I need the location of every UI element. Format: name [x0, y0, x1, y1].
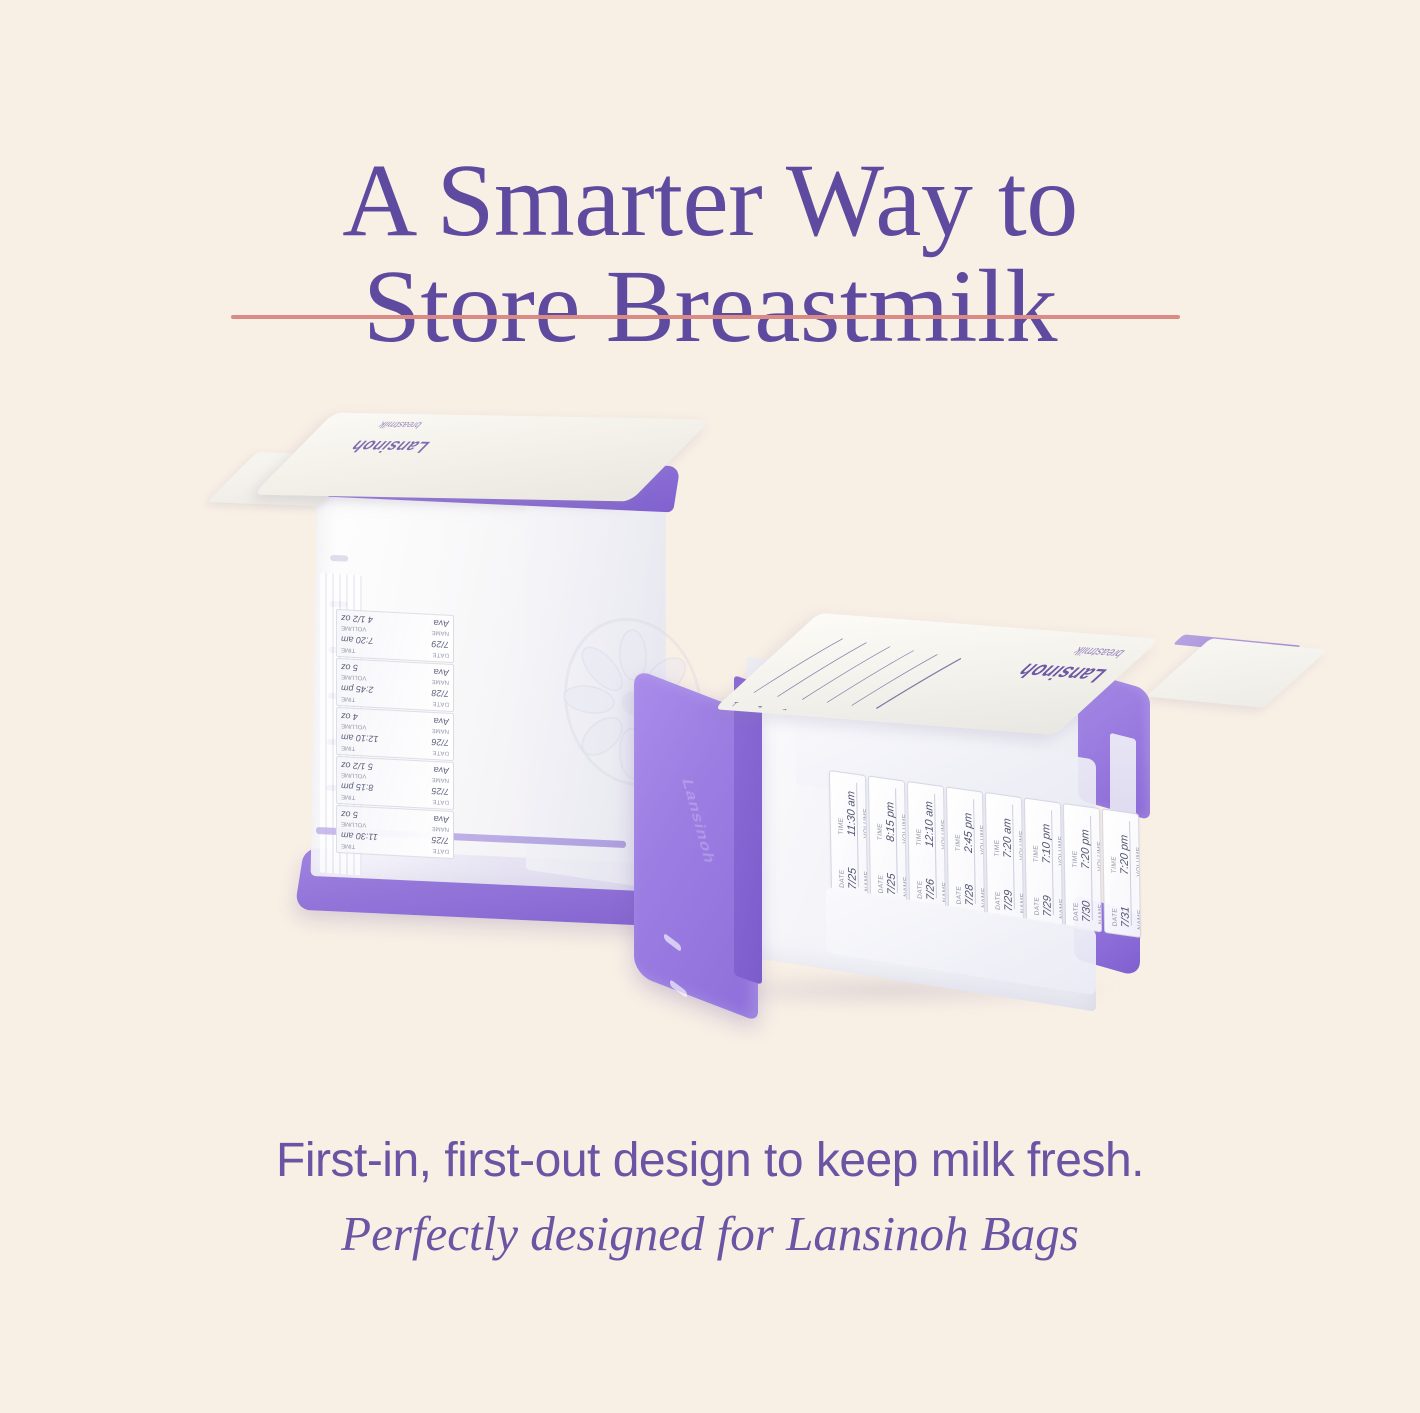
rear-milk-bag: Lansinoh breastmilk: [253, 413, 711, 502]
endcap-brand-wordmark: Lansinoh: [677, 779, 717, 865]
milk-log-label: DATE 7/25 NAME Ava TIME 11:30 am VOLUME …: [829, 770, 868, 900]
rear-label-entry: DATE 7/25 NAME Ava TIME 11:30 am VOLUME …: [336, 805, 454, 859]
endcap-slot-icon: [664, 933, 681, 953]
brand-product-word: breastmilk: [1070, 644, 1129, 660]
rear-label-entry: DATE 7/28 NAME Ava TIME 2:45 pm VOLUME 5…: [336, 658, 454, 712]
brand-product-word: breastmilk: [375, 420, 425, 431]
milk-log-label: DATE 7/29 NAME Ava TIME 7:20 am VOLUME 4…: [985, 792, 1024, 922]
milk-log-label: DATE 7/26 NAME Ava TIME 12:10 am VOLUME …: [907, 781, 946, 911]
front-bag-tab: [1146, 638, 1328, 707]
front-endcap-edge: [734, 675, 762, 985]
milk-log-label: DATE 7/30 NAME Ava TIME 7:20 pm VOLUME 4…: [1063, 803, 1102, 933]
rear-label-entry: DATE 7/25 NAME Ava TIME 8:15 pm VOLUME 5…: [336, 756, 454, 810]
milk-log-label: DATE 7/29 NAME Ava TIME 7:10 pm VOLUME 4…: [1024, 797, 1063, 927]
brand-wordmark: Lansinoh: [345, 436, 436, 455]
svg-text:6: 6: [851, 713, 866, 719]
promo-page: A Smarter Way to Store Breastmilk: [0, 0, 1420, 1413]
product-photo: DATE 7/25 NAME Ava TIME 11:30 am VOLUME …: [0, 0, 1420, 1413]
rear-label-strip: DATE 7/25 NAME Ava TIME 11:30 am VOLUME …: [336, 609, 454, 859]
svg-text:1: 1: [727, 700, 742, 710]
caption-secondary: Perfectly designed for Lansinoh Bags: [0, 1205, 1420, 1262]
bag-measurement-scale-icon: 1 2 3 4 5 6: [726, 622, 1002, 720]
svg-text:2: 2: [750, 704, 765, 714]
caption-primary: First-in, first-out design to keep milk …: [0, 1133, 1420, 1188]
milk-log-label: DATE 7/25 NAME Ava TIME 8:15 pm VOLUME 5…: [868, 775, 907, 905]
rear-label-entry: DATE 7/26 NAME Ava TIME 12:10 am VOLUME …: [336, 707, 454, 761]
milk-log-label: DATE 7/31 NAME Ava TIME 7:20 pm VOLUME 4…: [1102, 808, 1141, 938]
brand-wordmark: Lansinoh: [1011, 658, 1115, 686]
front-storage-container: DATE 7/25 NAME Ava TIME 11:30 am VOLUME …: [626, 640, 1206, 1060]
milk-log-label: DATE 7/28 NAME Ava TIME 2:45 pm VOLUME 5…: [946, 786, 985, 916]
rear-label-entry: DATE 7/29 NAME Ava TIME 7:20 am VOLUME 4…: [336, 609, 454, 663]
